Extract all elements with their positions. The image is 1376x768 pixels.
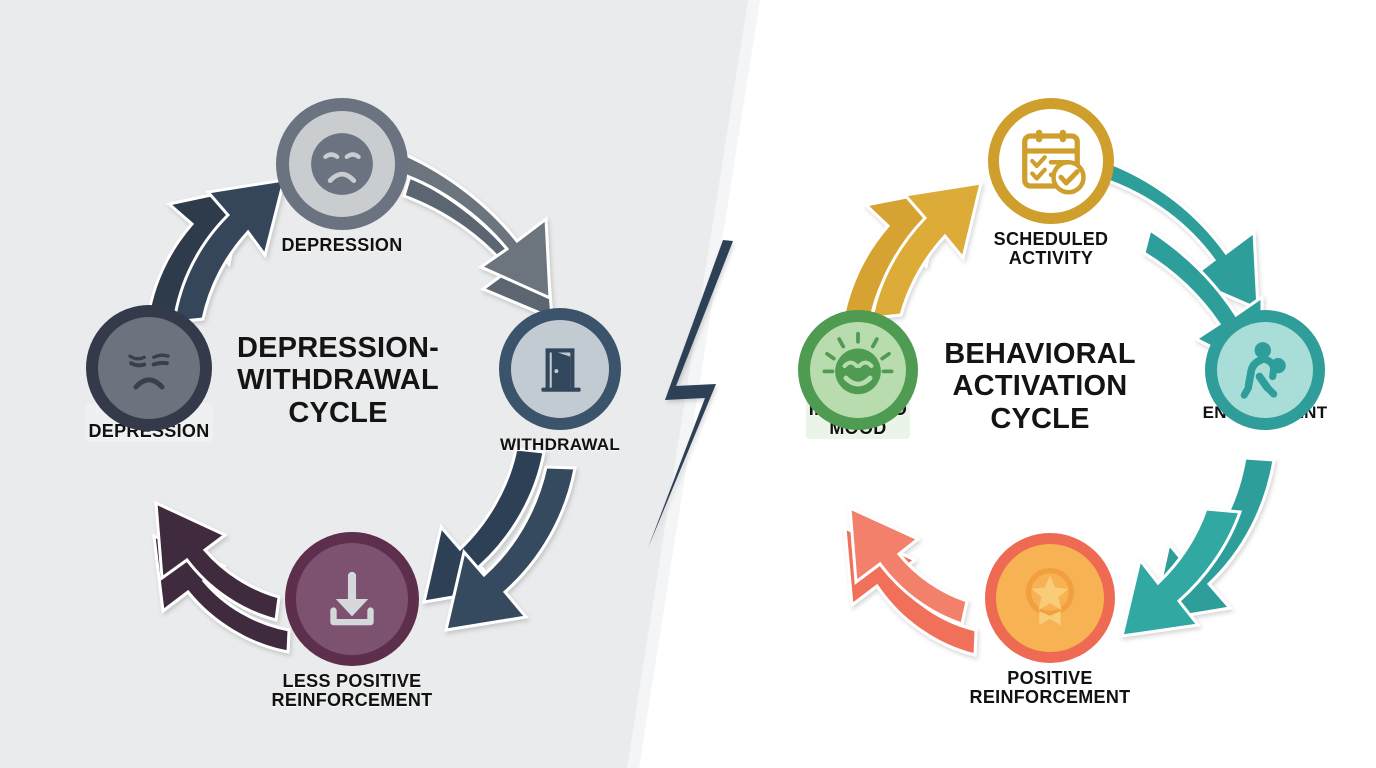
engagement-disc: [1205, 310, 1325, 430]
positive-reinforcement-label: POSITIVE REINFORCEMENT: [970, 669, 1131, 708]
node-scheduled-activity[interactable]: SCHEDULED ACTIVITY: [958, 98, 1144, 269]
scheduled-activity-label: SCHEDULED ACTIVITY: [994, 230, 1109, 269]
depression-label: DEPRESSION: [281, 236, 402, 255]
node-depression[interactable]: DEPRESSION: [262, 98, 422, 255]
node-deeper-depression[interactable]: DEEPER DEPRESSION: [55, 305, 243, 442]
withdrawal-label: WITHDRAWAL: [500, 436, 620, 454]
award-star-icon: [1012, 560, 1088, 636]
depression-disc: [276, 98, 408, 230]
improved-mood-disc: [798, 310, 918, 430]
scheduled-activity-disc: [988, 98, 1114, 224]
node-less-positive-reinforcement[interactable]: LESS POSITIVE REINFORCEMENT: [252, 532, 452, 711]
open-door-icon: [527, 336, 593, 402]
less-positive-reinforcement-label: LESS POSITIVE REINFORCEMENT: [272, 672, 433, 711]
node-engagement[interactable]: ENGAGEMENT: [1177, 310, 1353, 422]
less-positive-reinforcement-disc: [285, 532, 419, 666]
node-improved-mood[interactable]: IMPROVED MOOD: [770, 310, 946, 439]
withdrawal-disc: [499, 308, 621, 430]
infographic-canvas: DEPRESSION- WITHDRAWAL CYCLE BEHAVIORAL …: [0, 0, 1376, 768]
node-positive-reinforcement[interactable]: POSITIVE REINFORCEMENT: [950, 533, 1150, 708]
deeper-depression-disc: [86, 305, 212, 431]
calendar-check-icon: [1011, 121, 1091, 201]
download-tray-icon: [315, 562, 389, 636]
lightning-bolt-icon: [648, 240, 733, 548]
sad-face-icon: [304, 126, 380, 202]
positive-reinforcement-disc: [985, 533, 1115, 663]
node-withdrawal[interactable]: WITHDRAWAL: [475, 308, 645, 454]
smiling-sun-icon: [815, 327, 901, 413]
very-sad-face-icon: [111, 330, 187, 406]
person-playing-ball-icon: [1230, 335, 1300, 405]
